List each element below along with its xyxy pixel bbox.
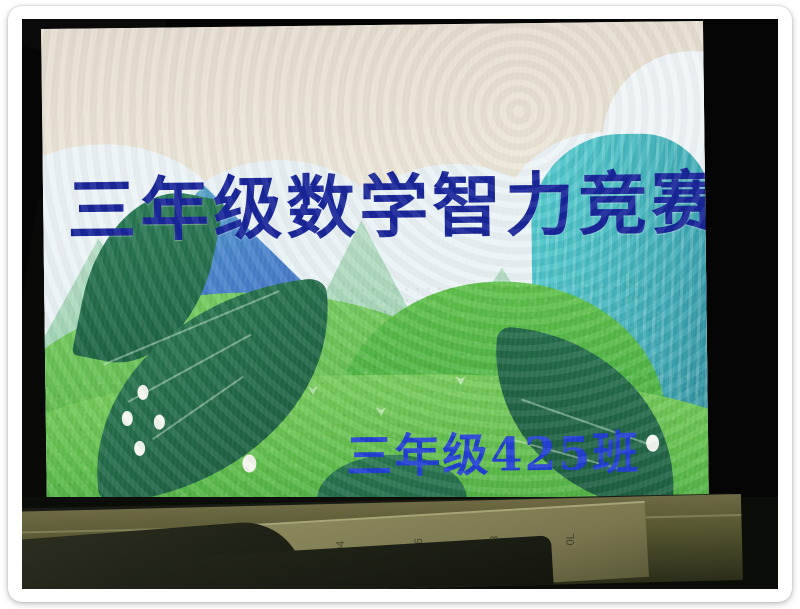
white-berry bbox=[154, 415, 165, 430]
grass-tuft: ⮟ bbox=[376, 406, 387, 419]
projection-screen: ⮟ ⮟ ⮟ ⮟ ⮟ ⮟ ⮟ ⮟ bbox=[41, 21, 709, 519]
photo-frame: ⮟ ⮟ ⮟ ⮟ ⮟ ⮟ ⮟ ⮟ bbox=[8, 6, 792, 602]
white-berry bbox=[646, 435, 659, 452]
white-berry bbox=[137, 385, 148, 400]
chalk-ledge: 02 04 06 08 0L bbox=[22, 494, 743, 589]
white-berry bbox=[134, 441, 145, 456]
white-berry bbox=[242, 454, 256, 472]
white-berry bbox=[122, 411, 133, 426]
leaf-vein bbox=[152, 376, 244, 440]
grass-tuft: ⮟ bbox=[307, 385, 318, 398]
slide-class-line: 三年级425班 bbox=[346, 430, 641, 480]
slide-title: 三年级数学智力竞赛 bbox=[67, 169, 698, 246]
photograph: ⮟ ⮟ ⮟ ⮟ ⮟ ⮟ ⮟ ⮟ bbox=[22, 19, 778, 589]
grass-tuft: ⮟ bbox=[455, 375, 466, 388]
ruler-mark: 0L bbox=[565, 533, 577, 545]
